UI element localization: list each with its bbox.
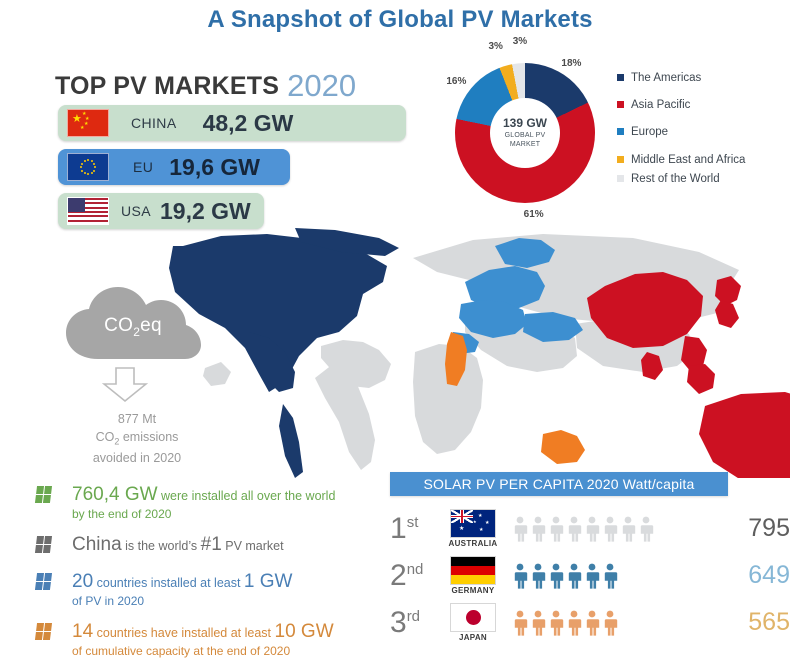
top-market-row-eu[interactable]: EU 19,6 GW — [58, 149, 290, 185]
person-icon — [548, 610, 564, 636]
legend-item-europe: Europe — [617, 124, 792, 141]
country-flag-block: GERMANY — [442, 556, 504, 595]
solar-panel-icon — [35, 573, 52, 590]
country-name: JAPAN — [442, 633, 504, 642]
country-name: USA — [121, 203, 151, 219]
fact-text: were installed all over the world — [158, 489, 336, 503]
co2-avoided-note: 877 Mt CO2 emissions avoided in 2020 — [62, 410, 212, 467]
donut-center-text-1: GLOBAL PV — [505, 132, 546, 141]
flag-japan-icon — [450, 603, 496, 632]
co2-avoided-block: CO2eq 877 Mt CO2 emissions avoided in 20… — [62, 285, 212, 363]
country-name: EU — [133, 159, 153, 175]
person-icon — [512, 516, 528, 542]
person-icon — [512, 563, 528, 589]
fact-highlight: China — [72, 534, 122, 555]
donut-pct-the-americas: 18% — [561, 58, 581, 69]
down-arrow-icon — [102, 367, 148, 408]
solar-panel-icon — [35, 486, 52, 503]
per-capita-ranking-list: 1st ★ ★ ★ ★ ★ AUSTRALIA 795 — [390, 505, 790, 646]
fact-text: countries installed at least — [93, 576, 244, 590]
legend-swatch-europe — [617, 128, 624, 135]
solar-panel-icon — [35, 623, 52, 640]
country-name: CHINA — [131, 115, 177, 131]
legend-swatch-asia-pacific — [617, 101, 624, 108]
flag-eu-icon — [67, 153, 109, 181]
rank-label: 1st — [390, 512, 442, 546]
donut-pct-middle-east-africa: 3% — [488, 41, 502, 52]
cloud-icon: CO2eq — [62, 285, 204, 363]
legend-swatch-rest-of-world — [617, 175, 624, 182]
fact-highlight: 20 — [72, 571, 93, 592]
fact-text-2: PV market — [222, 539, 284, 553]
per-capita-value: 649 — [712, 561, 790, 590]
top-pv-markets-year: 2020 — [287, 68, 356, 103]
top-pv-markets-heading: TOP PV MARKETS2020 — [55, 68, 356, 104]
fact-text: is the world’s — [122, 539, 201, 553]
infographic-canvas: A Snapshot of Global PV Markets TOP PV M… — [0, 0, 800, 658]
fact-subtext: by the end of 2020 — [72, 507, 386, 521]
fact-highlight: 14 — [72, 621, 93, 642]
people-pictogram-japan — [504, 610, 712, 636]
solar-panel-icon — [35, 536, 52, 553]
per-capita-banner: SOLAR PV PER CAPITA 2020 Watt/capita — [390, 472, 728, 496]
legend-swatch-middle-east-africa — [617, 156, 624, 163]
per-capita-value: 795 — [712, 514, 790, 543]
fact-item: 20 countries installed at least 1 GW of … — [36, 571, 386, 608]
donut-pct-asia-pacific: 61% — [524, 209, 544, 220]
fact-item: 760,4 GW were installed all over the wor… — [36, 484, 386, 521]
person-icon — [584, 563, 600, 589]
per-capita-row-japan: 3rd JAPAN 565 — [390, 599, 790, 646]
legend-swatch-the-americas — [617, 74, 624, 81]
person-icon — [602, 516, 618, 542]
flag-usa-icon — [67, 197, 109, 225]
legend-label: Asia Pacific — [631, 97, 690, 114]
fact-highlight-2: 10 GW — [275, 621, 334, 642]
donut-center-value: 139 GW — [503, 117, 547, 130]
people-pictogram-australia — [504, 516, 712, 542]
person-icon — [584, 516, 600, 542]
per-capita-row-australia: 1st ★ ★ ★ ★ ★ AUSTRALIA 795 — [390, 505, 790, 552]
country-value: 19,6 GW — [169, 154, 260, 181]
person-icon — [530, 563, 546, 589]
person-icon — [530, 516, 546, 542]
country-name: GERMANY — [442, 586, 504, 595]
legend-label: Middle East and Africa — [631, 152, 745, 169]
person-icon — [566, 610, 582, 636]
fact-subtext: of PV in 2020 — [72, 594, 386, 608]
person-icon — [602, 610, 618, 636]
person-icon — [548, 563, 564, 589]
co2-amount: 877 Mt — [118, 412, 156, 426]
top-market-row-china[interactable]: ★ ★ ★ ★ ★ CHINA 48,2 GW — [58, 105, 406, 141]
cloud-label: CO2eq — [62, 315, 204, 339]
per-capita-row-germany: 2nd GERMANY 649 — [390, 552, 790, 599]
person-icon — [548, 516, 564, 542]
country-name: AUSTRALIA — [442, 539, 504, 548]
donut-legend: The Americas Asia Pacific Europe Middle … — [617, 70, 792, 197]
country-flag-block: JAPAN — [442, 603, 504, 642]
legend-item-asia-pacific: Asia Pacific — [617, 97, 792, 114]
legend-label: Europe — [631, 124, 668, 141]
person-icon — [512, 610, 528, 636]
country-flag-block: ★ ★ ★ ★ ★ AUSTRALIA — [442, 509, 504, 548]
top-market-row-usa[interactable]: USA 19,2 GW — [58, 193, 264, 229]
person-icon — [530, 610, 546, 636]
per-capita-value: 565 — [712, 608, 790, 637]
flag-germany-icon — [450, 556, 496, 585]
fact-item: China is the world’s #1 PV market — [36, 534, 386, 556]
rank-label: 2nd — [390, 559, 442, 593]
donut-pct-rest-of-world: 3% — [513, 36, 527, 47]
key-facts-list: 760,4 GW were installed all over the wor… — [36, 484, 386, 671]
co2-year-text: avoided in 2020 — [93, 451, 181, 465]
donut-pct-europe: 16% — [446, 76, 466, 87]
co2-emissions-text: CO2 emissions — [96, 430, 179, 444]
person-icon — [566, 516, 582, 542]
global-pv-market-donut-chart: 139 GW GLOBAL PV MARKET 18% 61% 16% 3% 3… — [455, 63, 595, 203]
fact-highlight: 760,4 GW — [72, 484, 158, 505]
world-map — [165, 228, 790, 478]
person-icon — [584, 610, 600, 636]
fact-item: 14 countries have installed at least 10 … — [36, 621, 386, 658]
map-region-asia-pacific — [587, 272, 790, 478]
fact-highlight-2: #1 — [201, 534, 222, 555]
flag-australia-icon: ★ ★ ★ ★ ★ — [450, 509, 496, 538]
page-title: A Snapshot of Global PV Markets — [0, 6, 800, 34]
country-value: 48,2 GW — [203, 110, 294, 137]
top-pv-markets-label: TOP PV MARKETS — [55, 72, 279, 100]
legend-item-middle-east-africa: Middle East and Africa — [617, 152, 792, 169]
people-pictogram-germany — [504, 563, 712, 589]
person-icon — [620, 516, 636, 542]
legend-item-rest-of-world: Rest of the World — [617, 171, 792, 188]
legend-label: The Americas — [631, 70, 701, 87]
fact-highlight-2: 1 GW — [244, 571, 293, 592]
world-map-svg — [165, 228, 790, 478]
country-value: 19,2 GW — [160, 198, 251, 225]
legend-item-the-americas: The Americas — [617, 70, 792, 87]
flag-china-icon: ★ ★ ★ ★ ★ — [67, 109, 109, 137]
person-icon — [566, 563, 582, 589]
donut-center-text-2: MARKET — [510, 141, 540, 150]
legend-label: Rest of the World — [631, 171, 720, 188]
person-icon — [638, 516, 654, 542]
fact-subtext: of cumulative capacity at the end of 202… — [72, 644, 386, 658]
fact-text: countries have installed at least — [93, 626, 274, 640]
person-icon — [602, 563, 618, 589]
donut-center-label: 139 GW GLOBAL PV MARKET — [490, 98, 560, 168]
rank-label: 3rd — [390, 606, 442, 640]
